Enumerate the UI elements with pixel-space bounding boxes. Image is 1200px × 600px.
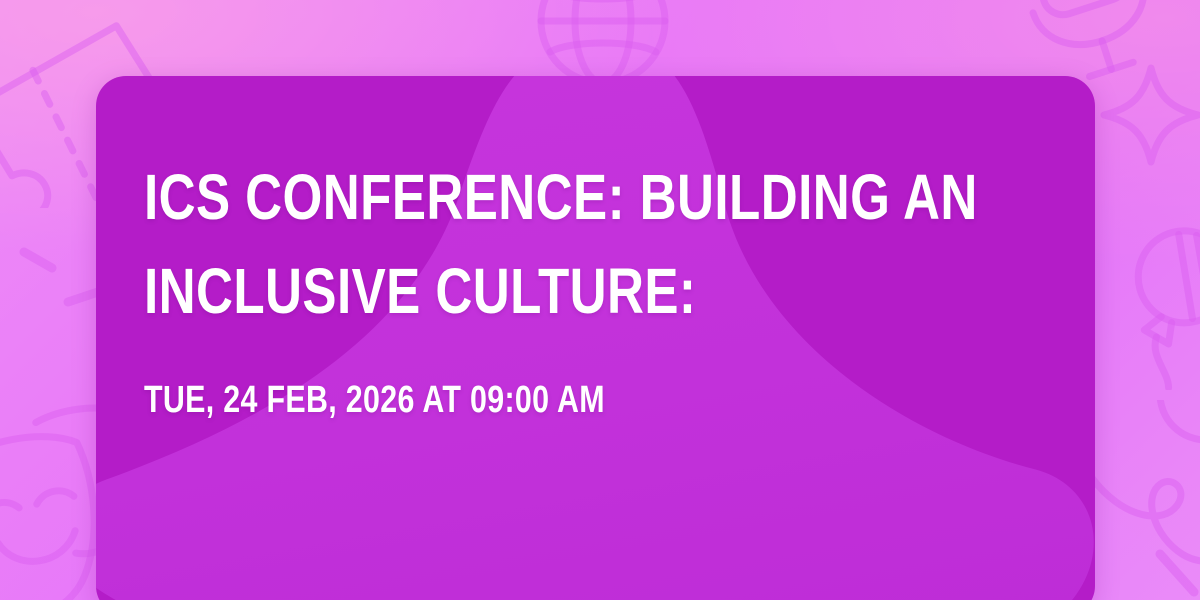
streamer-icon <box>1086 400 1200 600</box>
event-card: ICS Conference: Building an Inclusive Cu… <box>96 76 1095 600</box>
confetti-icon <box>1150 540 1200 600</box>
event-datetime: Tue, 24 Feb, 2026 at 09:00 AM <box>144 378 1095 422</box>
sparkle-icon <box>1096 60 1200 170</box>
event-card-content: ICS Conference: Building an Inclusive Cu… <box>96 76 1095 600</box>
balloon-icon <box>1108 220 1200 390</box>
event-title: ICS Conference: Building an Inclusive Cu… <box>144 150 1095 338</box>
event-banner: ICS Conference: Building an Inclusive Cu… <box>0 0 1200 600</box>
